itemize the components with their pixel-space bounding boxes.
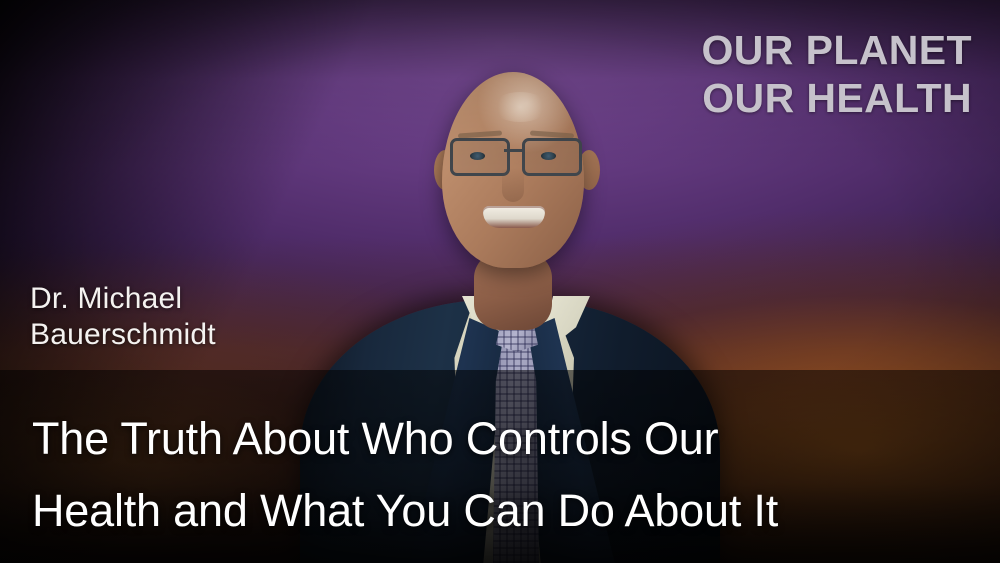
- title-line-2: Health and What You Can Do About It: [32, 475, 972, 547]
- presenter-name-line-2: Bauerschmidt: [30, 317, 216, 353]
- page-title: The Truth About Who Controls Our Health …: [32, 403, 972, 547]
- presenter-name: Dr. Michael Bauerschmidt: [30, 281, 216, 353]
- title-line-1: The Truth About Who Controls Our: [32, 403, 972, 475]
- logo-line-1: OUR PLANET: [702, 26, 973, 74]
- logo-line-2: OUR HEALTH: [702, 74, 973, 122]
- video-title-card: OUR PLANET OUR HEALTH Dr. Michael Bauers…: [0, 0, 1000, 563]
- logo-lockup: OUR PLANET OUR HEALTH: [702, 26, 973, 122]
- presenter-name-line-1: Dr. Michael: [30, 281, 216, 317]
